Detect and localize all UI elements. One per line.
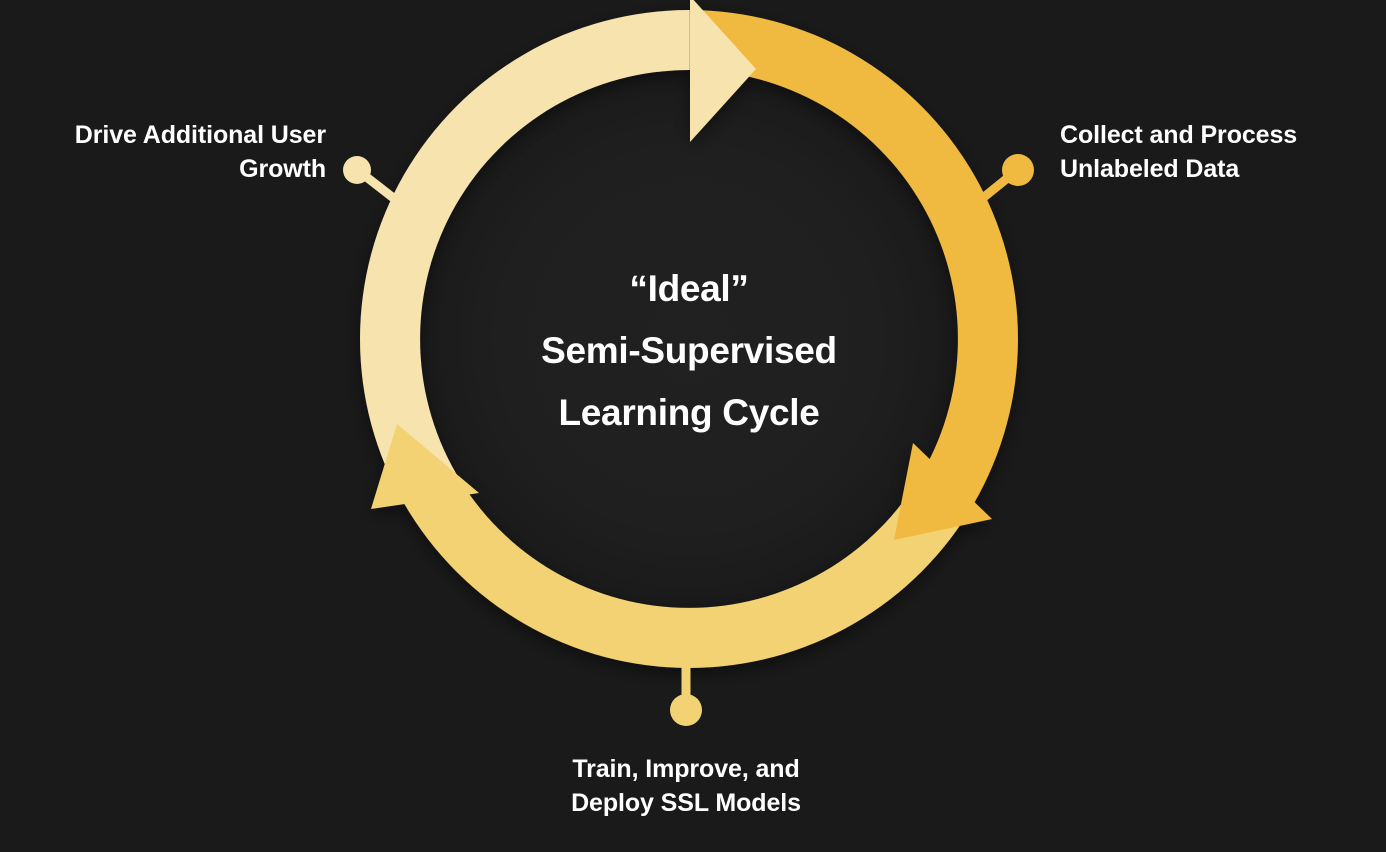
connector-dot-bottom[interactable]	[670, 694, 702, 726]
stage-label-train-improve-deploy-ssl-models: Train, Improve, and Deploy SSL Models	[486, 752, 886, 820]
stage-label-left-line-2: Growth	[0, 152, 326, 186]
center-title-line-3: Learning Cycle	[439, 382, 939, 444]
stage-label-right-line-2: Unlabeled Data	[1060, 152, 1376, 186]
connector-dot-upper-left[interactable]	[343, 156, 371, 184]
diagram-canvas: “Ideal” Semi-Supervised Learning Cycle D…	[0, 0, 1386, 852]
stage-label-left-line-1: Drive Additional User	[0, 118, 326, 152]
center-title: “Ideal” Semi-Supervised Learning Cycle	[439, 258, 939, 444]
center-title-line-2: Semi-Supervised	[439, 320, 939, 382]
stage-label-drive-additional-user-growth: Drive Additional User Growth	[0, 118, 326, 186]
stage-label-collect-and-process-unlabeled-data: Collect and Process Unlabeled Data	[1060, 118, 1376, 186]
stage-label-bottom-line-1: Train, Improve, and	[486, 752, 886, 786]
center-title-line-1: “Ideal”	[439, 258, 939, 320]
stage-label-right-line-1: Collect and Process	[1060, 118, 1376, 152]
connector-dot-upper-right[interactable]	[1002, 154, 1034, 186]
stage-label-bottom-line-2: Deploy SSL Models	[486, 786, 886, 820]
